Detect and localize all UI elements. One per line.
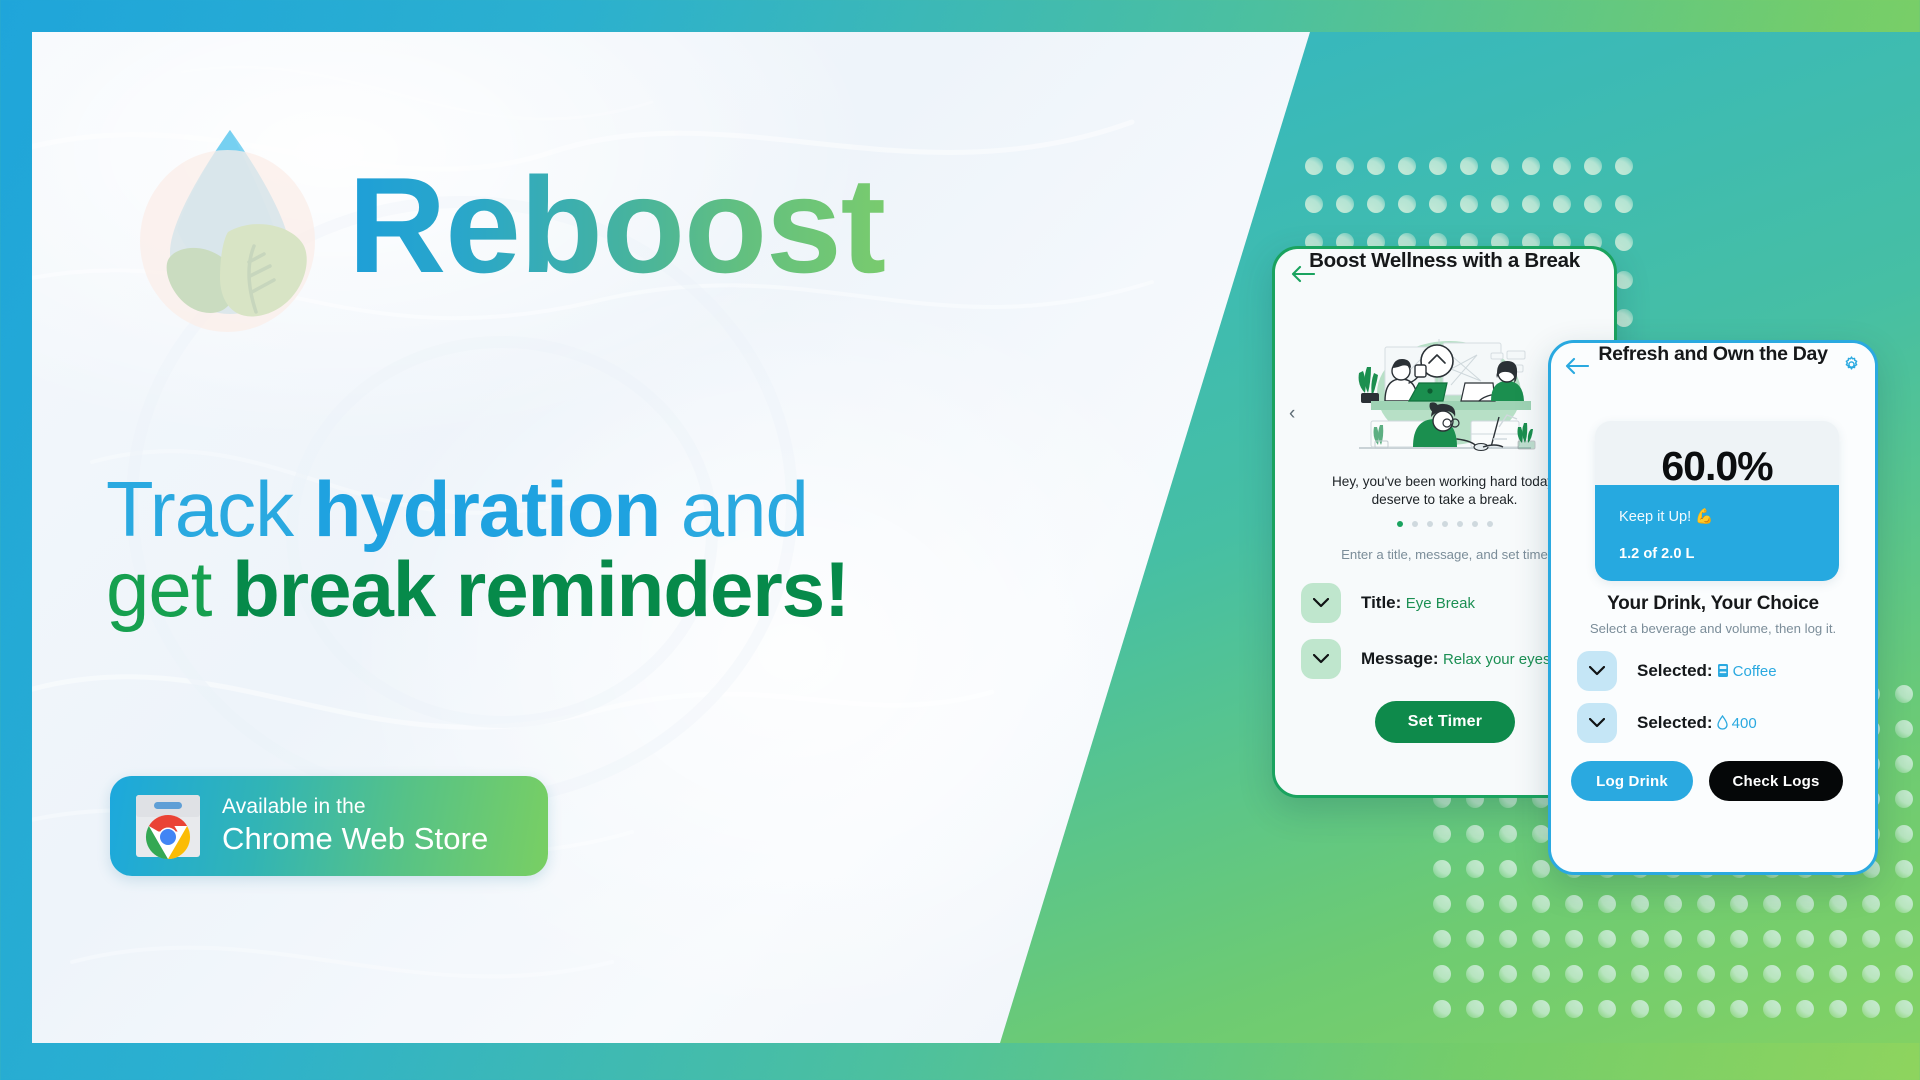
page-headline: Track hydration and get break reminders!	[106, 470, 1106, 629]
carousel-dot[interactable]	[1472, 521, 1478, 527]
headline-line-1: Track hydration and	[106, 470, 1106, 550]
phone1-title: Boost Wellness with a Break	[1275, 249, 1614, 273]
field-value: Coffee	[1733, 663, 1777, 680]
progress-encouragement: Keep it Up! 💪	[1619, 507, 1713, 525]
headline-word-hydration: hydration	[314, 465, 660, 553]
chevron-down-icon[interactable]	[1577, 703, 1617, 743]
poster-canvas: Reboost Track hydration and get break re…	[0, 0, 1920, 1080]
field-label: Selected:	[1637, 661, 1713, 680]
chrome-web-store-badge[interactable]: Available in the Chrome Web Store	[110, 776, 548, 876]
phone1-field-message[interactable]: Message: Relax your eyes.	[1301, 639, 1555, 679]
gear-icon[interactable]	[1842, 355, 1861, 379]
field-value: 400	[1732, 715, 1757, 732]
chrome-web-store-icon	[134, 793, 202, 859]
brand-logo-block: Reboost	[128, 120, 885, 335]
office-break-illustration	[1331, 335, 1559, 463]
carousel-dot[interactable]	[1442, 521, 1448, 527]
carousel-dot[interactable]	[1412, 521, 1418, 527]
progress-percent-label: 60.0%	[1595, 443, 1839, 490]
back-arrow-icon[interactable]	[1291, 263, 1315, 288]
water-drop-leaf-logo-icon	[128, 120, 338, 335]
water-drop-icon	[1717, 716, 1732, 731]
phone-mockup-hydration: Refresh and Own the Day 60.0% Keep it Up…	[1548, 340, 1878, 875]
field-label: Selected:	[1637, 713, 1713, 732]
set-timer-button[interactable]: Set Timer	[1375, 701, 1515, 743]
chevron-down-icon[interactable]	[1301, 583, 1341, 623]
hydration-progress-card: 60.0% Keep it Up! 💪 1.2 of 2.0 L	[1595, 421, 1839, 581]
phone1-field-title[interactable]: Title: Eye Break	[1301, 583, 1475, 623]
back-arrow-icon[interactable]	[1565, 355, 1589, 380]
carousel-dot[interactable]	[1427, 521, 1433, 527]
coffee-cup-icon	[1717, 664, 1733, 679]
carousel-dot[interactable]	[1457, 521, 1463, 527]
headline-word-break-reminders: break reminders!	[232, 545, 849, 633]
phone2-field-volume[interactable]: Selected: 400	[1577, 703, 1757, 743]
carousel-dot[interactable]	[1397, 521, 1403, 527]
check-logs-button[interactable]: Check Logs	[1709, 761, 1843, 801]
phone2-section-title: Your Drink, Your Choice	[1551, 593, 1875, 615]
phone2-field-beverage[interactable]: Selected: Coffee	[1577, 651, 1777, 691]
field-label: Message:	[1361, 649, 1438, 668]
phone2-section-subtitle: Select a beverage and volume, then log i…	[1551, 621, 1875, 636]
progress-amount: 1.2 of 2.0 L	[1619, 546, 1694, 562]
badge-big-label: Chrome Web Store	[222, 820, 488, 859]
field-label: Title:	[1361, 593, 1401, 612]
chevron-down-icon[interactable]	[1301, 639, 1341, 679]
log-drink-button[interactable]: Log Drink	[1571, 761, 1693, 801]
field-value: Eye Break	[1406, 595, 1475, 612]
progress-fill	[1595, 485, 1839, 581]
headline-word-get: get	[106, 545, 232, 633]
phone2-title: Refresh and Own the Day	[1551, 343, 1875, 366]
carousel-prev-chevron-icon[interactable]: ‹	[1289, 403, 1295, 425]
carousel-dot[interactable]	[1487, 521, 1493, 527]
brand-wordmark: Reboost	[348, 157, 885, 293]
headline-line-2: get break reminders!	[106, 550, 1106, 630]
headline-word-track: Track	[106, 465, 314, 553]
badge-small-label: Available in the	[222, 794, 488, 820]
field-value: Relax your eyes.	[1443, 651, 1555, 668]
chevron-down-icon[interactable]	[1577, 651, 1617, 691]
headline-word-and: and	[660, 465, 808, 553]
